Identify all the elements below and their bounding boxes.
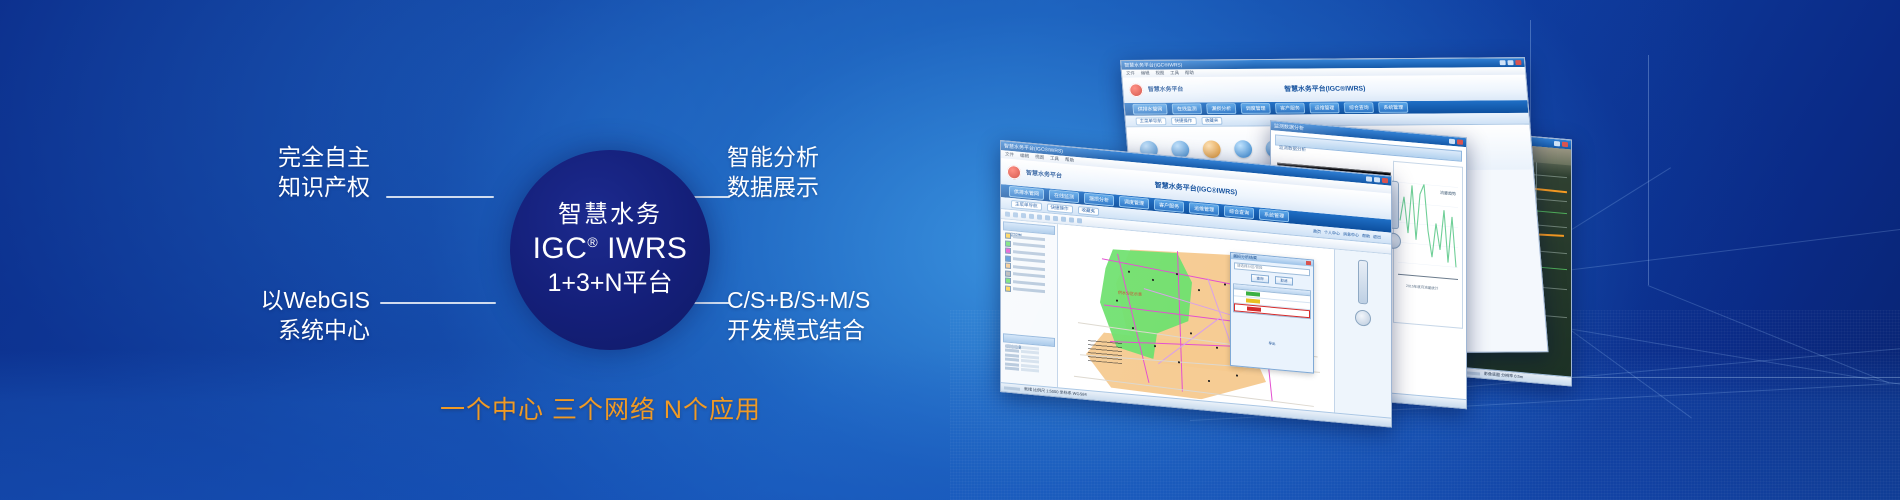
- map-label-cluster: [1088, 339, 1122, 364]
- tab-system[interactable]: 系统管理: [1378, 102, 1408, 113]
- feature-top-right-line1: 智能分析: [727, 142, 819, 172]
- company-logo-icon: [1007, 165, 1021, 180]
- gis-menu-edit[interactable]: 编辑: [1020, 153, 1029, 160]
- gis-menu-tools[interactable]: 工具: [1050, 156, 1059, 163]
- feature-bottom-left-line2: 系统中心: [230, 315, 370, 345]
- status-chip-green: [1246, 291, 1260, 296]
- gis-subtab-quick[interactable]: 快捷操作: [1047, 203, 1073, 213]
- map-node[interactable]: [1128, 271, 1130, 273]
- charts-panel-title: 监测数据分析: [1276, 145, 1306, 153]
- trend-line-chart-svg: [1394, 162, 1462, 328]
- feature-top-right-line2: 数据展示: [727, 172, 819, 202]
- feature-top-left-line1: 完全自主: [240, 142, 370, 172]
- menu-item-view[interactable]: 视图: [1155, 70, 1164, 76]
- gis-map-canvas[interactable]: 供水分区示意 漏损分析结果 请选择分区/管段 查询 取消: [1058, 224, 1334, 412]
- feature-bottom-right: C/S+B/S+M/S 开发模式结合: [727, 285, 870, 346]
- subtab-main-nav[interactable]: 主菜单导航: [1135, 117, 1166, 125]
- minimize-icon[interactable]: [1449, 139, 1455, 145]
- app-title: 智慧水务平台(IGC®IWRS): [1284, 84, 1366, 94]
- map-node[interactable]: [1208, 380, 1210, 382]
- tool-zoom-in-icon[interactable]: [1013, 212, 1018, 217]
- connector-top-left: [386, 196, 494, 198]
- banner-stage: 智慧水务平台(IGC®IWRS) 文件 编辑 视图 工具 帮助 智慧水务平台 智…: [0, 0, 1900, 500]
- feature-top-left-line2: 知识产权: [240, 172, 370, 202]
- feature-bottom-right-line1: C/S+B/S+M/S: [727, 285, 870, 315]
- hub-line-3: 1+3+N平台: [547, 268, 672, 298]
- tool-refresh-icon[interactable]: [1077, 218, 1082, 223]
- tab-customer[interactable]: 客户服务: [1275, 103, 1305, 114]
- satellite-window-controls[interactable]: [1554, 141, 1568, 147]
- brand-header: 智慧水务平台 智慧水务平台(IGC®IWRS): [1122, 75, 1527, 103]
- dialog-cancel-button[interactable]: 取消: [1275, 276, 1293, 286]
- attribute-list: [1003, 344, 1055, 374]
- layer-swatch-icon: [1005, 255, 1011, 262]
- user-link-messages[interactable]: 消息中心: [1343, 231, 1359, 238]
- map-node[interactable]: [1132, 327, 1134, 329]
- maximize-icon[interactable]: [1374, 177, 1380, 183]
- tool-select-icon[interactable]: [1029, 214, 1034, 219]
- portal-icon-stats[interactable]: [1234, 140, 1253, 158]
- charts-window-controls[interactable]: [1449, 139, 1463, 145]
- layer-swatch-icon: [1005, 247, 1011, 254]
- brand-name: 智慧水务平台: [1148, 87, 1184, 94]
- window-title-text: 智慧水务平台(IGC®IWRS): [1124, 62, 1182, 69]
- user-link-logout[interactable]: 退出: [1373, 233, 1381, 240]
- tool-zoom-out-icon[interactable]: [1021, 213, 1026, 218]
- tool-identify-icon[interactable]: [1045, 215, 1050, 220]
- close-icon[interactable]: [1562, 142, 1568, 148]
- status-chip-yellow: [1246, 298, 1260, 303]
- layer-swatch-icon: [1005, 240, 1011, 247]
- layer-swatch-icon: [1005, 262, 1011, 269]
- dialog-results-table[interactable]: [1233, 283, 1311, 319]
- maximize-icon[interactable]: [1507, 60, 1513, 65]
- hub-line-2: IGC® IWRS: [533, 232, 688, 267]
- hub-iwrs-text: IWRS: [607, 232, 687, 265]
- map-node[interactable]: [1236, 374, 1238, 376]
- perspective-line-vertical-2: [1648, 55, 1649, 285]
- tool-measure-icon[interactable]: [1037, 214, 1042, 219]
- layer-swatch-icon: [1005, 277, 1011, 284]
- satellite-status-text: 影像底图 分辨率 0.5m: [1484, 371, 1523, 380]
- map-node[interactable]: [1116, 300, 1118, 302]
- gis-menu-view[interactable]: 视图: [1035, 154, 1044, 161]
- company-logo-icon: [1129, 83, 1144, 97]
- tool-layer-icon[interactable]: [1061, 217, 1066, 222]
- leakage-analysis-dialog[interactable]: 漏损分析结果 请选择分区/管段 查询 取消: [1230, 252, 1314, 374]
- feature-bottom-left: 以WebGIS 系统中心: [230, 285, 370, 346]
- gis-window-controls[interactable]: [1366, 176, 1388, 183]
- gis-brand-name: 智慧水务平台: [1026, 170, 1062, 180]
- gis-menu-file[interactable]: 文件: [1005, 151, 1014, 158]
- dialog-close-icon[interactable]: [1306, 261, 1311, 265]
- map-node[interactable]: [1154, 345, 1156, 347]
- tool-search-icon[interactable]: [1069, 217, 1074, 222]
- portal-icon-alarm[interactable]: [1202, 140, 1221, 158]
- tab-maintenance[interactable]: 运维管理: [1309, 102, 1339, 113]
- map-node[interactable]: [1198, 289, 1200, 291]
- window-controls[interactable]: [1500, 60, 1522, 65]
- map-node[interactable]: [1178, 361, 1180, 363]
- gis-app-title: 智慧水务平台(IGC®IWRS): [1155, 180, 1238, 198]
- close-icon[interactable]: [1515, 60, 1521, 65]
- menu-item-edit[interactable]: 编辑: [1141, 71, 1150, 77]
- tool-pan-icon[interactable]: [1005, 211, 1010, 216]
- app-window-gis[interactable]: 智慧水务平台(IGC®IWRS) 文件 编辑 视图 工具 帮助 智慧水务平台 智…: [1000, 140, 1392, 428]
- tab-query[interactable]: 综合查询: [1344, 102, 1374, 113]
- map-pan-control[interactable]: [1355, 309, 1371, 326]
- feature-top-right: 智能分析 数据展示: [727, 142, 819, 203]
- connector-top-right: [694, 196, 730, 198]
- hub-line-1: 智慧水务: [558, 202, 662, 228]
- registered-mark-icon: ®: [587, 234, 598, 250]
- hub-circle: 智慧水务 IGC® IWRS 1+3+N平台: [510, 150, 710, 350]
- layer-swatch-icon: [1005, 232, 1011, 239]
- dialog-footer-button[interactable]: 导出: [1269, 341, 1276, 347]
- tagline-text: 一个中心 三个网络 N个应用: [440, 390, 761, 426]
- feature-bottom-left-line1: 以WebGIS: [230, 285, 370, 315]
- subtab-quick-actions[interactable]: 快捷操作: [1170, 117, 1196, 125]
- feature-top-left: 完全自主 知识产权: [240, 142, 370, 203]
- connector-bottom-right: [694, 302, 730, 304]
- tab-dispatch[interactable]: 调度管理: [1241, 103, 1271, 114]
- dialog-ok-button[interactable]: 查询: [1251, 274, 1269, 284]
- feature-bottom-right-line2: 开发模式结合: [727, 315, 870, 345]
- user-link-profile[interactable]: 个人中心: [1324, 229, 1340, 236]
- dialog-title: 漏损分析结果: [1233, 253, 1257, 261]
- close-icon[interactable]: [1457, 139, 1463, 145]
- map-node[interactable]: [1224, 283, 1226, 285]
- user-link-help[interactable]: 帮助: [1362, 232, 1370, 239]
- gis-subtab-main-nav[interactable]: 主菜单导航: [1011, 200, 1042, 211]
- trend-line-chart[interactable]: 流量趋势 2015年度月流量统计: [1393, 161, 1463, 329]
- minimize-icon[interactable]: [1366, 176, 1372, 182]
- menu-item-file[interactable]: 文件: [1126, 71, 1135, 77]
- user-link-home[interactable]: 首页: [1313, 228, 1321, 235]
- layer-swatch-icon: [1005, 285, 1011, 292]
- status-chip-red: [1247, 306, 1261, 311]
- tab-pipeline[interactable]: 供排水管网: [1132, 104, 1167, 115]
- subtab-favorites[interactable]: 收藏夹: [1201, 116, 1223, 124]
- map-node[interactable]: [1190, 332, 1192, 334]
- map-zoom-slider[interactable]: [1358, 260, 1368, 305]
- gis-layer-panel[interactable]: 图层控制 属性信息: [1001, 219, 1058, 387]
- gis-subtab-fav[interactable]: 收藏夹: [1078, 206, 1100, 216]
- tab-monitoring[interactable]: 在线监测: [1172, 103, 1202, 114]
- gis-menu-help[interactable]: 帮助: [1065, 157, 1074, 164]
- status-chip: [1004, 386, 1020, 390]
- map-node[interactable]: [1176, 273, 1178, 275]
- hub-igc-text: IGC: [533, 232, 588, 265]
- minimize-icon[interactable]: [1554, 141, 1560, 147]
- trend-chart-label: 流量趋势: [1440, 190, 1456, 197]
- map-node[interactable]: [1216, 347, 1218, 349]
- layer-swatch-icon: [1005, 270, 1011, 277]
- menu-item-tools[interactable]: 工具: [1170, 70, 1179, 76]
- layer-tree[interactable]: [1003, 232, 1055, 295]
- tab-leakage[interactable]: 漏损分析: [1206, 103, 1236, 114]
- close-icon[interactable]: [1382, 178, 1388, 184]
- gis-right-panel[interactable]: [1334, 249, 1391, 417]
- connector-bottom-left: [380, 302, 496, 304]
- map-node[interactable]: [1152, 279, 1154, 281]
- minimize-icon[interactable]: [1500, 60, 1506, 65]
- tool-print-icon[interactable]: [1053, 216, 1058, 221]
- menu-item-help[interactable]: 帮助: [1185, 70, 1194, 76]
